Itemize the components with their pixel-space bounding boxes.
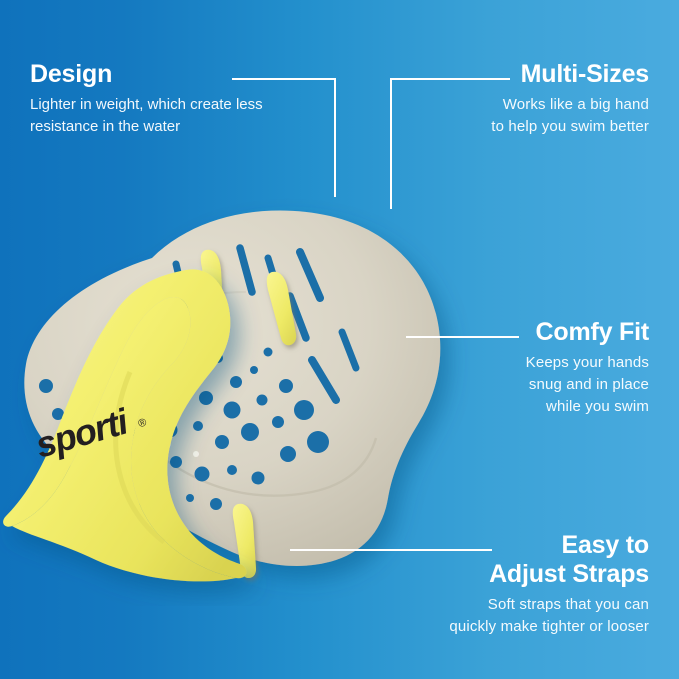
paddle-grip-dots (39, 348, 329, 511)
paddle-vent-slots (176, 248, 356, 400)
paddle-contour-upper (120, 292, 246, 336)
feature-body-design-line-1: Lighter in weight, which create less (30, 94, 263, 116)
feature-block-comfy-fit: Comfy Fit Keeps your hands snug and in p… (379, 318, 649, 419)
feature-title-design: Design (30, 60, 263, 89)
infographic-canvas: sporti ® Design Lighter in weight, which… (0, 0, 679, 679)
brand-registered-mark: ® (137, 417, 148, 431)
feature-body-comfy-fit-line-1: Keeps your hands (379, 352, 649, 374)
feature-block-design: Design Lighter in weight, which create l… (30, 60, 263, 138)
paddle-highlight-dots (118, 420, 200, 458)
feature-title-easy-straps-line-1: Easy to (359, 531, 649, 560)
feature-body-multi-sizes-line-1: Works like a big hand (379, 94, 649, 116)
feature-title-easy-straps-line-2: Adjust Straps (359, 560, 649, 589)
feature-body-easy-straps-line-1: Soft straps that you can (359, 594, 649, 616)
finger-pegs (201, 250, 296, 578)
paddle-blade (24, 210, 440, 566)
connector-design-vertical (334, 78, 336, 197)
feature-body-multi-sizes-line-2: to help you swim better (379, 116, 649, 138)
strap-shading (116, 372, 164, 542)
paddle-contour (150, 438, 376, 496)
brand-logo-text: sporti (31, 400, 134, 466)
feature-block-easy-adjust-straps: Easy to Adjust Straps Soft straps that y… (359, 531, 649, 638)
feature-title-multi-sizes: Multi-Sizes (379, 60, 649, 89)
paddle-strap (3, 269, 246, 581)
feature-block-multi-sizes: Multi-Sizes Works like a big hand to hel… (379, 60, 649, 138)
feature-body-comfy-fit-line-3: while you swim (379, 396, 649, 418)
feature-title-comfy-fit: Comfy Fit (379, 318, 649, 347)
feature-body-design-line-2: resistance in the water (30, 116, 263, 138)
feature-body-comfy-fit-line-2: snug and in place (379, 374, 649, 396)
feature-body-easy-straps-line-2: quickly make tighter or looser (359, 616, 649, 638)
brand-logo: sporti ® (31, 395, 150, 465)
